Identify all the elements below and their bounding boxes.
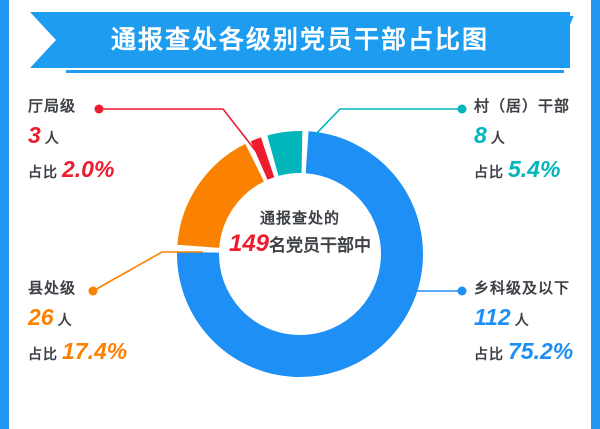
label-xianchuji-count: 26人 [28, 302, 127, 336]
label-tingjuji-pct: 占比2.0% [28, 154, 114, 188]
page-title: 通报查处各级别党员干部占比图 [30, 12, 570, 68]
left-edge-bar [0, 0, 9, 429]
label-xianchuji-number: 26 [28, 304, 54, 330]
label-xiangkeji-pct: 占比75.2% [474, 336, 573, 370]
label-xianchuji: 县处级 26人 占比17.4% [28, 276, 127, 370]
label-xiangkeji-count: 112人 [474, 302, 573, 336]
donut-segments [191, 145, 409, 363]
label-cunjuganbu-pct-prefix: 占比 [474, 164, 504, 180]
label-xianchuji-pct-prefix: 占比 [28, 346, 58, 362]
label-xiangkeji-number: 112 [474, 304, 511, 330]
label-tingjuji-pct-value: 2.0% [62, 156, 114, 182]
label-cunjuganbu-name: 村（居）干部 [474, 94, 570, 120]
label-xianchuji-unit: 人 [58, 312, 72, 328]
ribbon-underline [66, 70, 564, 73]
label-xianchuji-pct-value: 17.4% [62, 338, 127, 364]
label-tingjuji-unit: 人 [45, 130, 59, 146]
label-cunjuganbu-count: 8人 [474, 120, 570, 154]
label-xiangkeji-pct-prefix: 占比 [474, 346, 504, 362]
label-xiangkeji-unit: 人 [515, 312, 529, 328]
label-tingjuji-number: 3 [28, 122, 41, 148]
label-tingjuji: 厅局级 3人 占比2.0% [28, 94, 114, 188]
label-tingjuji-count: 3人 [28, 120, 114, 154]
title-banner: 通报查处各级别党员干部占比图 [30, 12, 570, 74]
label-cunjuganbu-pct-value: 5.4% [508, 156, 560, 182]
label-cunjuganbu-number: 8 [474, 122, 487, 148]
label-xiangkeji-pct-value: 75.2% [508, 338, 573, 364]
label-cunjuganbu-pct: 占比5.4% [474, 154, 570, 188]
donut-chart [150, 104, 450, 404]
label-xianchuji-pct: 占比17.4% [28, 336, 127, 370]
label-tingjuji-name: 厅局级 [28, 94, 114, 120]
label-xiangkeji: 乡科级及以下 112人 占比75.2% [474, 276, 573, 370]
right-edge-bar [591, 0, 600, 429]
label-cunjuganbu-unit: 人 [491, 130, 505, 146]
label-xiangkeji-name: 乡科级及以下 [474, 276, 573, 302]
infographic-canvas: 通报查处各级别党员干部占比图 通报查处的 149名党员干部中 [0, 0, 600, 429]
label-tingjuji-pct-prefix: 占比 [28, 164, 58, 180]
label-cunjuganbu: 村（居）干部 8人 占比5.4% [474, 94, 570, 188]
label-xianchuji-name: 县处级 [28, 276, 127, 302]
